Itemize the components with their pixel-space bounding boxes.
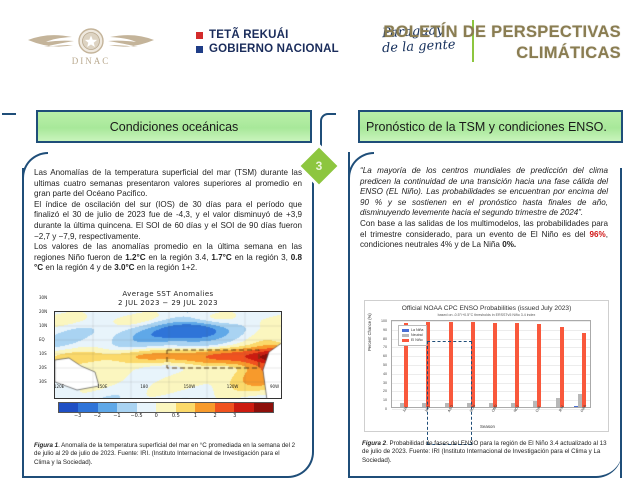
map-x-tick: 120W bbox=[227, 384, 239, 389]
fig2-bar bbox=[493, 323, 497, 407]
fig1-caption-text: . Anomalía de la temperatura superficial… bbox=[34, 442, 295, 466]
map-y-tick: 20N bbox=[39, 309, 47, 314]
nino34-value: 1.2°C bbox=[125, 253, 145, 262]
colorbar-tick-label: 0 bbox=[155, 413, 158, 419]
colorbar-tick-label: 2 bbox=[213, 413, 216, 419]
colorbar-tick-label: −1 bbox=[113, 413, 120, 419]
enso-body: Con base a las salidas de los multimodel… bbox=[360, 219, 608, 251]
colorbar-swatch bbox=[215, 403, 234, 412]
bulletin-title-line-2: CLIMÁTICAS bbox=[381, 43, 621, 64]
colorbar-swatch bbox=[176, 403, 195, 412]
fig2-subtitle: based on -0.5°/+0.5°C thresholds in ERSS… bbox=[365, 313, 608, 317]
map-x-tick: 120E bbox=[54, 384, 64, 389]
figure-1-caption: Figura 1. Anomalía de la temperatura sup… bbox=[34, 442, 296, 467]
blue-square-icon bbox=[196, 46, 203, 53]
fig2-bar-group bbox=[574, 319, 586, 407]
fig2-caption-label: Figura 2 bbox=[362, 440, 386, 447]
enso-forecast-text: “La mayoría de los centros mundiales de … bbox=[360, 166, 608, 251]
figure-2-caption: Figura 2. Probabilidad de fases del ENSO… bbox=[362, 440, 608, 465]
center-bracket-mark bbox=[320, 113, 336, 151]
fig2-title: Official NOAA CPC ENSO Probabilities (is… bbox=[365, 305, 608, 312]
colorbar-swatch bbox=[98, 403, 117, 412]
colorbar-tick-label: 0.5 bbox=[172, 413, 180, 419]
elnino-probability-value: 96% bbox=[590, 230, 606, 239]
colorbar-tick-label: −3 bbox=[74, 413, 81, 419]
map-y-tick: 20S bbox=[39, 365, 47, 370]
p3-t3: en la región 1+2. bbox=[135, 263, 198, 272]
colorbar-tick-label: 3 bbox=[233, 413, 236, 419]
fig2-y-tick: 100 bbox=[365, 319, 389, 323]
fig2-y-tick: 90 bbox=[365, 328, 389, 332]
fig2-legend-swatch bbox=[402, 329, 409, 332]
lanina-probability-value: 0%. bbox=[502, 240, 516, 249]
section-title-left-label: Condiciones oceánicas bbox=[110, 120, 239, 134]
colorbar-swatch bbox=[156, 403, 175, 412]
nino3-value: 1.7°C bbox=[211, 253, 231, 262]
dinac-logo: DINAC bbox=[16, 14, 166, 76]
fig2-bar bbox=[537, 324, 541, 407]
dinac-wings-icon bbox=[26, 24, 156, 58]
p3-t1: en la región 3, bbox=[232, 253, 291, 262]
fig1-title: Average SST Anomalies bbox=[36, 290, 300, 299]
boletin-page: DINAC TETÃ REKUÁI GOBIERNO NACIONAL Para… bbox=[0, 0, 633, 492]
left-paragraph-3: Los valores de las anomalías promedio en… bbox=[34, 242, 302, 274]
figure-1-sst-map: Average SST Anomalies 2 JUL 2023 − 29 JU… bbox=[36, 290, 300, 438]
fig2-legend-swatch bbox=[402, 334, 409, 337]
colorbar-tick-label: −2 bbox=[94, 413, 101, 419]
colorbar-swatch bbox=[234, 403, 253, 412]
step-number-marker: 3 bbox=[303, 150, 335, 182]
fig2-bar bbox=[560, 327, 564, 407]
enso-body-pre: Con base a las salidas de los multimodel… bbox=[360, 219, 608, 239]
colorbar-tick-label: 1 bbox=[194, 413, 197, 419]
fig1-caption-label: Figura 1 bbox=[34, 442, 58, 449]
colorbar-swatch bbox=[195, 403, 214, 412]
fig2-plot-area: 0102030405060708090100JJAJASASOSONONDNDJ… bbox=[391, 320, 591, 408]
section-title-ocean-conditions: Condiciones oceánicas bbox=[36, 110, 312, 143]
fig1-subtitle: 2 JUL 2023 − 29 JUL 2023 bbox=[36, 299, 300, 308]
right-panel-edge bbox=[620, 168, 622, 478]
fig2-legend-row: El Niño bbox=[402, 338, 423, 343]
fig2-y-tick: 80 bbox=[365, 337, 389, 341]
page-header: DINAC TETÃ REKUÁI GOBIERNO NACIONAL Para… bbox=[0, 0, 633, 92]
fig2-bar-group bbox=[529, 319, 541, 407]
map-y-tick: 30S bbox=[39, 379, 47, 384]
fig2-y-tick: 40 bbox=[365, 372, 389, 376]
figure-2-enso-chart: Official NOAA CPC ENSO Probabilities (is… bbox=[364, 300, 609, 432]
map-y-tick: 10N bbox=[39, 323, 47, 328]
fig2-bar-group bbox=[507, 319, 519, 407]
map-y-tick: 10S bbox=[39, 351, 47, 356]
gov-line-gobierno: GOBIERNO NACIONAL bbox=[196, 42, 339, 56]
map-y-tick: EQ bbox=[39, 337, 45, 342]
colorbar-swatch bbox=[59, 403, 78, 412]
wings-emblem-icon bbox=[26, 24, 156, 58]
fig2-caption-text: . Probabilidad de fases del ENSO para la… bbox=[362, 440, 607, 464]
fig2-y-tick: 30 bbox=[365, 381, 389, 385]
map-y-tick: 30N bbox=[39, 295, 47, 300]
fig2-highlight-box bbox=[427, 341, 471, 445]
gov-line-teta: TETÃ REKUÁI bbox=[196, 28, 339, 42]
map-x-tick: 90W bbox=[270, 384, 279, 389]
section-title-enso: Pronóstico de la TSM y condiciones ENSO. bbox=[358, 110, 623, 143]
sst-colorbar-ticks: −3−2−1−0.500.5123 bbox=[58, 413, 274, 423]
colorbar-swatch bbox=[78, 403, 97, 412]
map-x-tick: 150E bbox=[97, 384, 107, 389]
fig2-legend-swatch bbox=[402, 339, 409, 342]
fig2-y-tick: 50 bbox=[365, 363, 389, 367]
fig2-y-tick: 70 bbox=[365, 345, 389, 349]
map-x-tick: 150W bbox=[184, 384, 196, 389]
fig2-y-tick: 20 bbox=[365, 389, 389, 393]
step-number-label: 3 bbox=[303, 150, 335, 182]
sst-map-canvas bbox=[55, 312, 282, 399]
fig2-bar-group bbox=[485, 319, 497, 407]
p3-t2: en la región 4 y de bbox=[43, 263, 114, 272]
left-paragraph-2: El índice de oscilación del sur (IOS) de… bbox=[34, 200, 302, 242]
enso-quote: “La mayoría de los centros mundiales de … bbox=[360, 166, 608, 219]
red-square-icon bbox=[196, 32, 203, 39]
left-panel-edge bbox=[22, 168, 24, 478]
fig2-y-tick: 10 bbox=[365, 398, 389, 402]
gov-line-2-label: GOBIERNO NACIONAL bbox=[209, 43, 339, 55]
map-x-tick: 180 bbox=[140, 384, 148, 389]
colorbar-swatch bbox=[117, 403, 136, 412]
nino12-value: 3.0°C bbox=[114, 263, 134, 272]
fig2-y-tick: 60 bbox=[365, 354, 389, 358]
left-paragraph-1: Las Anomalías de la temperatura superfic… bbox=[34, 168, 302, 200]
colorbar-tick-label: −0.5 bbox=[130, 413, 142, 419]
left-bracket-mark bbox=[2, 113, 16, 143]
bulletin-title-line-1: BOLETÍN DE PERSPECTIVAS bbox=[381, 22, 621, 43]
section-title-right-label: Pronóstico de la TSM y condiciones ENSO. bbox=[366, 120, 607, 134]
fig2-bar-group bbox=[552, 319, 564, 407]
colorbar-swatch bbox=[137, 403, 156, 412]
fig2-bar bbox=[582, 333, 586, 407]
fig2-legend: La NiñaNeutralEl Niño bbox=[398, 325, 427, 346]
fig2-bar bbox=[515, 323, 519, 407]
sst-anomaly-map bbox=[54, 311, 282, 399]
sst-colorbar bbox=[58, 402, 274, 413]
p3-t0: en la región 3.4, bbox=[146, 253, 212, 262]
gov-line-1-label: TETÃ REKUÁI bbox=[209, 29, 289, 41]
fig2-xlabel: Season bbox=[365, 424, 610, 429]
colorbar-swatch bbox=[254, 403, 273, 412]
fig2-legend-label: El Niño bbox=[411, 338, 423, 343]
ocean-conditions-text: Las Anomalías de la temperatura superfic… bbox=[34, 168, 302, 274]
government-branding: TETÃ REKUÁI GOBIERNO NACIONAL bbox=[196, 28, 339, 56]
bulletin-title: BOLETÍN DE PERSPECTIVAS CLIMÁTICAS bbox=[381, 22, 621, 64]
fig2-y-tick: 0 bbox=[365, 407, 389, 411]
